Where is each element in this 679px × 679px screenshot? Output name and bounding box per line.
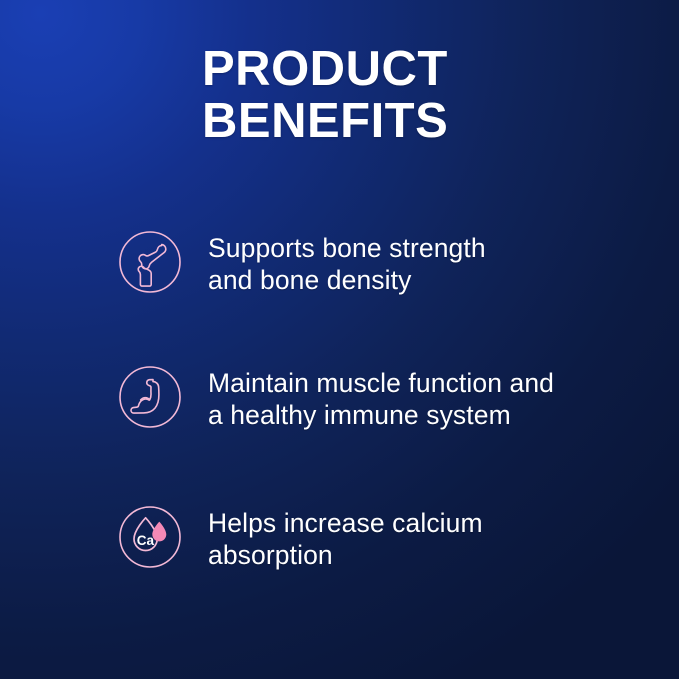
page-title: PRODUCT BENEFITS [202,43,622,147]
calcium-droplet-icon: Ca [118,505,182,569]
benefit-item-bone: Supports bone strength and bone density [118,230,658,296]
benefit-item-muscle: Maintain muscle function and a healthy i… [118,365,658,431]
benefit-text-calcium: Helps increase calcium absorption [208,505,483,571]
product-benefits-poster: PRODUCT BENEFITS Supports bone strength … [0,0,679,679]
benefit-text-muscle: Maintain muscle function and a healthy i… [208,365,554,431]
benefit-text-muscle-line-2: a healthy immune system [208,399,554,431]
calcium-symbol-label: Ca [137,533,155,548]
benefit-text-calcium-line-2: absorption [208,539,483,571]
benefit-text-muscle-line-1: Maintain muscle function and [208,367,554,399]
page-title-line-2: BENEFITS [202,95,622,147]
benefit-item-calcium: Ca Helps increase calcium absorption [118,505,658,571]
page-title-line-1: PRODUCT [202,43,622,95]
benefit-text-bone: Supports bone strength and bone density [208,230,486,296]
benefit-text-bone-line-2: and bone density [208,264,486,296]
benefit-text-calcium-line-1: Helps increase calcium [208,507,483,539]
flexed-bicep-icon [118,365,182,429]
bone-joint-icon [118,230,182,294]
benefit-text-bone-line-1: Supports bone strength [208,232,486,264]
